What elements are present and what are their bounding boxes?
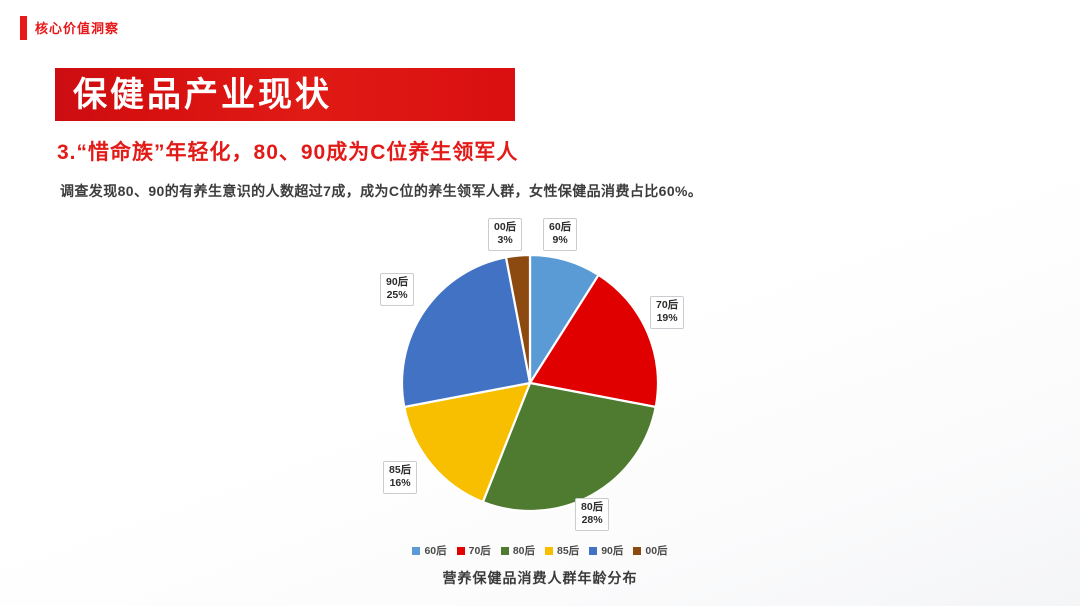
legend-label: 60后 [424, 546, 446, 557]
legend-label: 80后 [513, 546, 535, 557]
data-label-60hou: 60后 9% [543, 218, 577, 251]
data-label-value: 28% [581, 514, 603, 527]
body-paragraph: 调查发现80、90的有养生意识的人数超过7成，成为C位的养生领军人群，女性保健品… [60, 182, 702, 200]
slide-canvas: 核心价值洞察 保健品产业现状 3.“惜命族”年轻化，80、90成为C位养生领军人… [0, 0, 1080, 606]
legend-item-80后[interactable]: 80后 [501, 546, 535, 557]
pie-graphic [400, 253, 660, 513]
data-label-name: 60后 [549, 221, 571, 234]
legend-label: 70后 [469, 546, 491, 557]
chart-title: 营养保健品消费人群年龄分布 [330, 570, 750, 587]
data-label-value: 3% [494, 234, 516, 247]
legend-item-70后[interactable]: 70后 [457, 546, 491, 557]
eyebrow-accent-bar [20, 16, 27, 40]
page-title: 保健品产业现状 [55, 78, 332, 112]
data-label-value: 25% [386, 289, 408, 302]
data-label-name: 80后 [581, 501, 603, 514]
pie-svg [400, 253, 660, 513]
title-banner: 保健品产业现状 [55, 68, 515, 121]
eyebrow-label: 核心价值洞察 [35, 22, 119, 35]
data-label-name: 70后 [656, 299, 678, 312]
legend-swatch-icon [412, 547, 420, 555]
legend-swatch-icon [589, 547, 597, 555]
legend-item-60后[interactable]: 60后 [412, 546, 446, 557]
legend-item-90后[interactable]: 90后 [589, 546, 623, 557]
section-subheading: 3.“惜命族”年轻化，80、90成为C位养生领军人 [57, 140, 518, 165]
data-label-value: 16% [389, 477, 411, 490]
data-label-name: 90后 [386, 276, 408, 289]
legend-item-00后[interactable]: 00后 [633, 546, 667, 557]
data-label-name: 00后 [494, 221, 516, 234]
legend-label: 85后 [557, 546, 579, 557]
data-label-name: 85后 [389, 464, 411, 477]
data-label-value: 9% [549, 234, 571, 247]
data-label-80hou: 80后 28% [575, 498, 609, 531]
legend-item-85后[interactable]: 85后 [545, 546, 579, 557]
legend-label: 00后 [645, 546, 667, 557]
legend-swatch-icon [545, 547, 553, 555]
eyebrow-header: 核心价值洞察 [20, 16, 119, 40]
data-label-00hou: 00后 3% [488, 218, 522, 251]
legend-swatch-icon [633, 547, 641, 555]
legend-swatch-icon [457, 547, 465, 555]
pie-chart: 00后 3% 60后 9% 70后 19% 80后 28% 85后 16% 90… [330, 218, 750, 606]
legend-label: 90后 [601, 546, 623, 557]
data-label-90hou: 90后 25% [380, 273, 414, 306]
data-label-85hou: 85后 16% [383, 461, 417, 494]
legend-swatch-icon [501, 547, 509, 555]
chart-legend: 60后70后80后85后90后00后 [330, 546, 750, 557]
data-label-value: 19% [656, 312, 678, 325]
data-label-70hou: 70后 19% [650, 296, 684, 329]
